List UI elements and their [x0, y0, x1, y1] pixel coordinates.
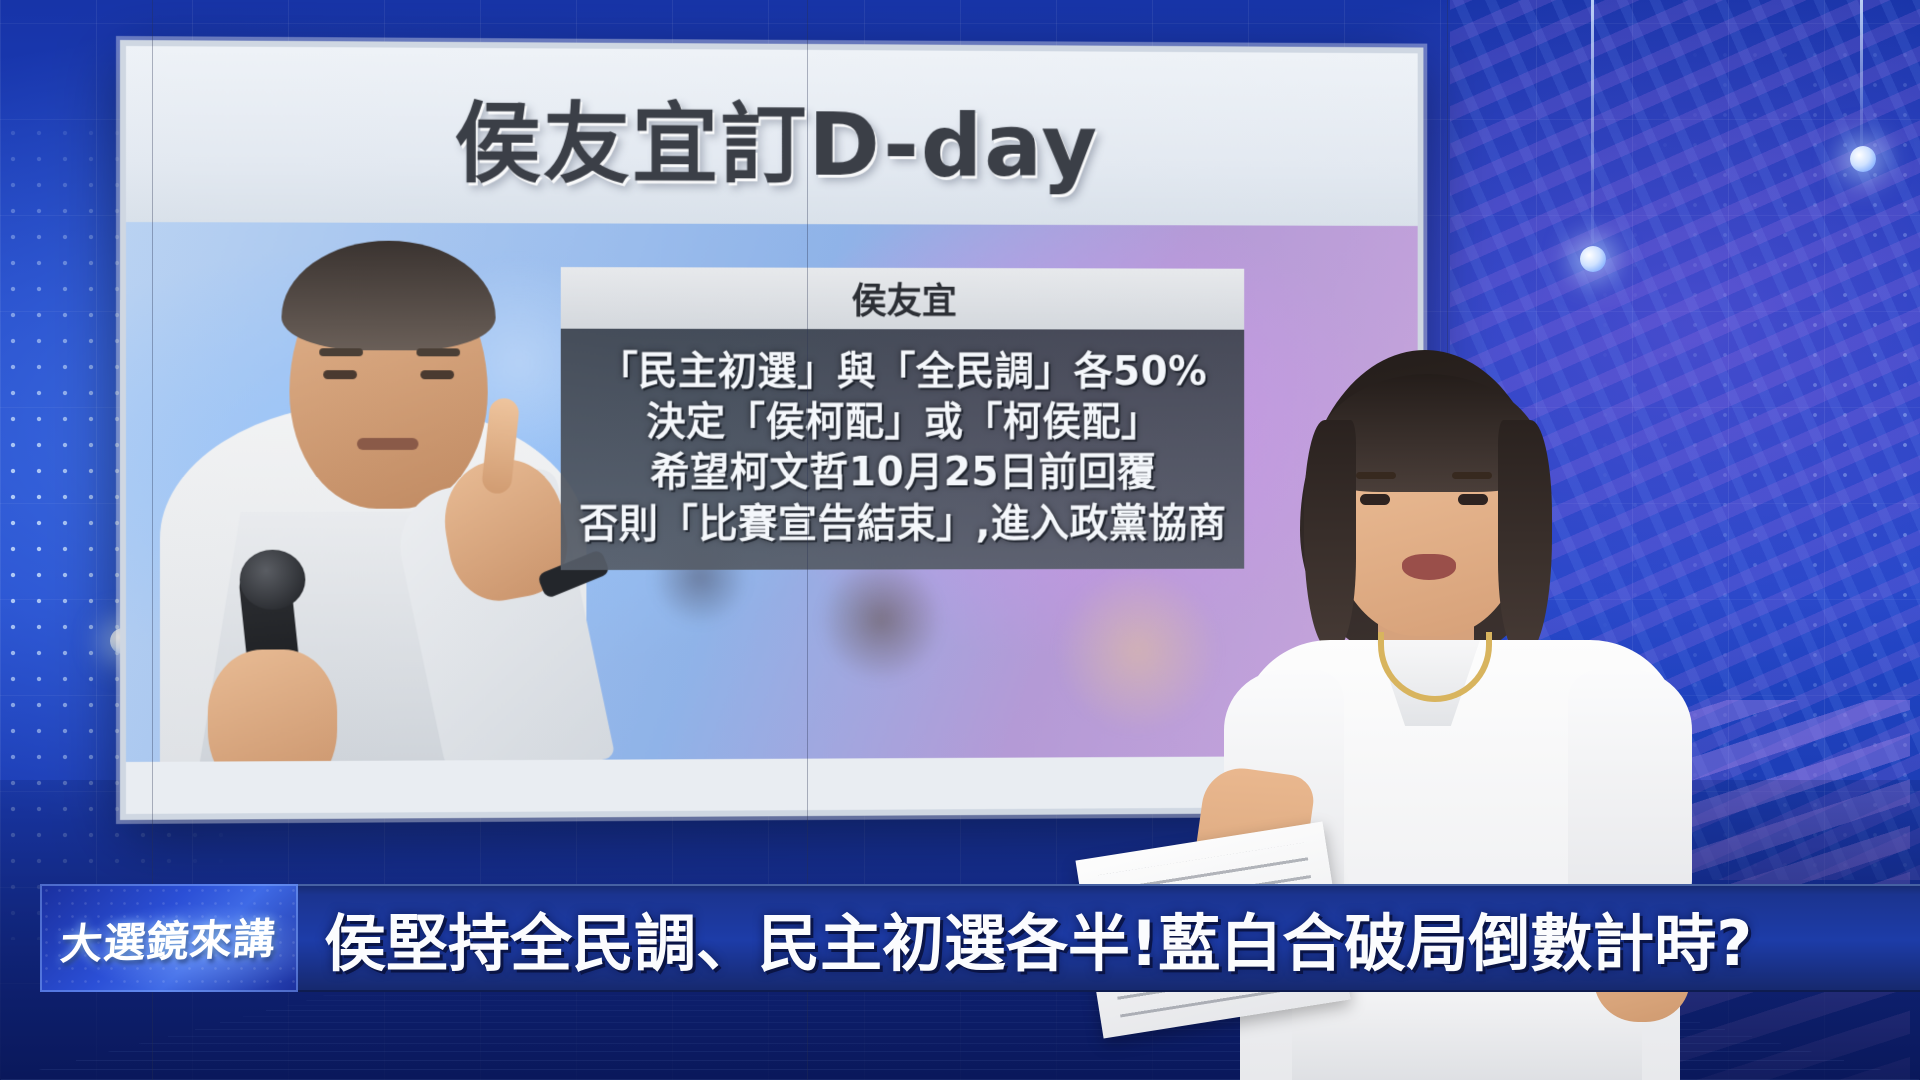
- microphone-head-icon: [240, 550, 306, 610]
- program-logo-text: 大選鏡來講: [59, 905, 279, 972]
- info-card: 侯友宜 「民主初選」與「全民調」各50% 決定「侯柯配」或「柯侯配」 希望柯文哲…: [561, 267, 1244, 570]
- anchor-eyebrow-left: [1356, 472, 1396, 479]
- lamp-stem-1: [1591, 0, 1594, 250]
- headline-bar: 侯堅持全民調、民主初選各半!藍白合破局倒數計時?: [298, 884, 1920, 992]
- anchor-eye-left: [1360, 494, 1390, 505]
- lower-third-ticker: 大選鏡來講 侯堅持全民調、民主初選各半!藍白合破局倒數計時?: [40, 884, 1920, 992]
- subject-hand-holding-mic: [208, 649, 337, 762]
- graphic-title: 侯友宜訂D-day: [454, 72, 1099, 201]
- info-bullet-2: 決定「侯柯配」或「柯侯配」: [575, 397, 1231, 448]
- anchor-eyebrow-right: [1452, 472, 1492, 479]
- subject-eyebrow-right: [416, 348, 460, 356]
- anchor-hair-side-right: [1498, 420, 1552, 655]
- broadcast-frame: 侯友宜訂D-day: [0, 0, 1920, 1080]
- anchor-sleeve-right: [1568, 670, 1692, 920]
- subject-eye-left: [323, 370, 357, 379]
- info-card-body: 「民主初選」與「全民調」各50% 決定「侯柯配」或「柯侯配」 希望柯文哲10月2…: [561, 329, 1244, 570]
- info-bullet-1: 「民主初選」與「全民調」各50%: [575, 347, 1231, 398]
- politician-photo: [170, 230, 586, 762]
- subject-eyebrow-left: [319, 348, 363, 356]
- anchor-hair-side-left: [1304, 420, 1356, 650]
- info-bullet-4: 否則「比賽宣告結束」,進入政黨協商: [575, 498, 1231, 550]
- lamp-stem-2: [1860, 0, 1863, 150]
- subject-hair: [281, 240, 495, 350]
- graphic-title-bar: 侯友宜訂D-day: [126, 46, 1418, 226]
- info-card-header: 侯友宜: [561, 267, 1244, 330]
- headline-text: 侯堅持全民調、民主初選各半!藍白合破局倒數計時?: [298, 893, 1752, 983]
- subject-mouth: [357, 438, 418, 450]
- studio-lamp-1: [1580, 246, 1606, 272]
- program-logo-badge: 大選鏡來講: [40, 884, 298, 992]
- info-card-name: 侯友宜: [851, 273, 956, 325]
- anchor-mouth: [1402, 554, 1456, 580]
- anchor-eye-right: [1458, 494, 1488, 505]
- subject-eye-right: [420, 370, 454, 379]
- studio-lamp-2: [1850, 146, 1876, 172]
- info-bullet-3: 希望柯文哲10月25日前回覆: [575, 448, 1231, 499]
